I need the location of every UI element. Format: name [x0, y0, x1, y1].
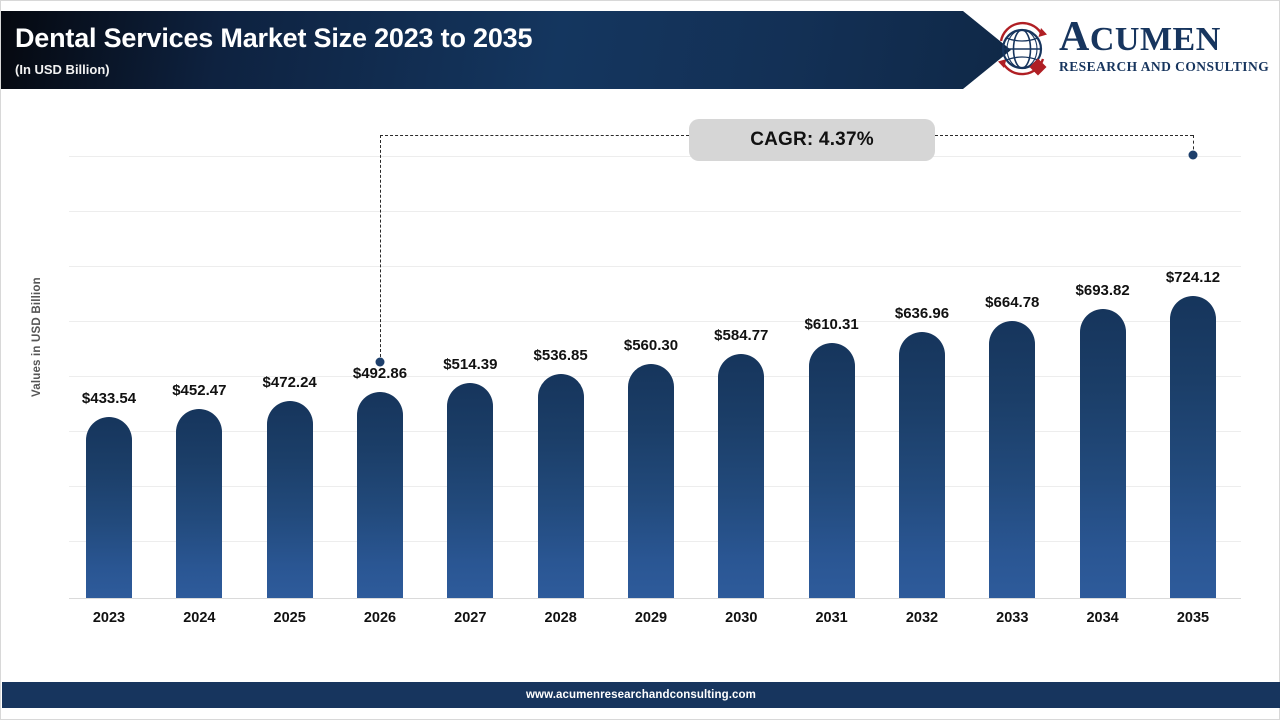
footer-bar: www.acumenresearchandconsulting.com	[2, 682, 1280, 708]
cagr-badge: CAGR: 4.37%	[689, 119, 935, 161]
bar-2032	[899, 332, 945, 598]
x-axis-tick-2024: 2024	[183, 610, 215, 626]
globe-icon	[991, 19, 1057, 83]
bar-value-label: $536.85	[534, 347, 588, 364]
x-axis-tick-2023: 2023	[93, 610, 125, 626]
bar-2033	[989, 321, 1035, 598]
x-axis-tick-2028: 2028	[545, 610, 577, 626]
bar-value-label: $452.47	[172, 382, 226, 399]
footer-url[interactable]: www.acumenresearchandconsulting.com	[526, 689, 756, 701]
bar-value-label: $492.86	[353, 365, 407, 382]
x-axis-tick-2034: 2034	[1086, 610, 1118, 626]
cagr-marker-dot-left	[375, 358, 384, 367]
x-axis-tick-2033: 2033	[996, 610, 1028, 626]
x-axis-tick-2032: 2032	[906, 610, 938, 626]
x-axis-tick-2026: 2026	[364, 610, 396, 626]
gridline	[69, 156, 1241, 157]
gridline	[69, 321, 1241, 322]
x-axis-tick-2027: 2027	[454, 610, 486, 626]
bar-2031	[809, 343, 855, 598]
bar-value-label: $433.54	[82, 390, 136, 407]
cagr-marker-dot-right	[1188, 151, 1197, 160]
page-subtitle: (In USD Billion)	[15, 62, 110, 77]
gridline	[69, 266, 1241, 267]
bar-2027	[447, 383, 493, 598]
bar-2024	[176, 409, 222, 598]
x-axis-line	[69, 598, 1241, 599]
x-axis-tick-2031: 2031	[815, 610, 847, 626]
logo-company-name: ACUMEN	[1059, 19, 1269, 58]
bar-2035	[1170, 296, 1216, 598]
bar-value-label: $693.82	[1076, 282, 1130, 299]
y-axis-label: Values in USD Billion	[31, 227, 43, 397]
logo-name-rest: CUMEN	[1090, 21, 1221, 58]
page-title: Dental Services Market Size 2023 to 2035	[15, 23, 532, 54]
x-axis-tick-2025: 2025	[274, 610, 306, 626]
infographic-page: Dental Services Market Size 2023 to 2035…	[0, 0, 1280, 720]
bar-2026	[357, 392, 403, 598]
company-logo: ACUMEN RESEARCH AND CONSULTING	[991, 17, 1271, 85]
x-axis-tick-2029: 2029	[635, 610, 667, 626]
logo-initial: A	[1059, 14, 1090, 60]
bar-2029	[628, 364, 674, 598]
bar-2030	[718, 354, 764, 598]
bar-2028	[538, 374, 584, 598]
bar-value-label: $610.31	[805, 316, 859, 333]
bar-value-label: $514.39	[443, 356, 497, 373]
cagr-connector-top-left	[380, 135, 689, 136]
logo-wordmark: ACUMEN RESEARCH AND CONSULTING	[1059, 19, 1269, 75]
bar-2034	[1080, 309, 1126, 598]
cagr-connector-top-right	[935, 135, 1193, 136]
bar-chart: Values in USD Billion $433.542023$452.47…	[1, 97, 1280, 663]
cagr-connector-left	[380, 135, 381, 362]
bar-value-label: $584.77	[714, 327, 768, 344]
x-axis-tick-2030: 2030	[725, 610, 757, 626]
gridline	[69, 211, 1241, 212]
bar-value-label: $664.78	[985, 294, 1039, 311]
bar-2025	[267, 401, 313, 598]
bar-value-label: $560.30	[624, 337, 678, 354]
bar-2023	[86, 417, 132, 598]
x-axis-tick-2035: 2035	[1177, 610, 1209, 626]
bar-value-label: $724.12	[1166, 269, 1220, 286]
bar-value-label: $472.24	[263, 374, 317, 391]
logo-tagline: RESEARCH AND CONSULTING	[1059, 59, 1269, 75]
bar-value-label: $636.96	[895, 305, 949, 322]
